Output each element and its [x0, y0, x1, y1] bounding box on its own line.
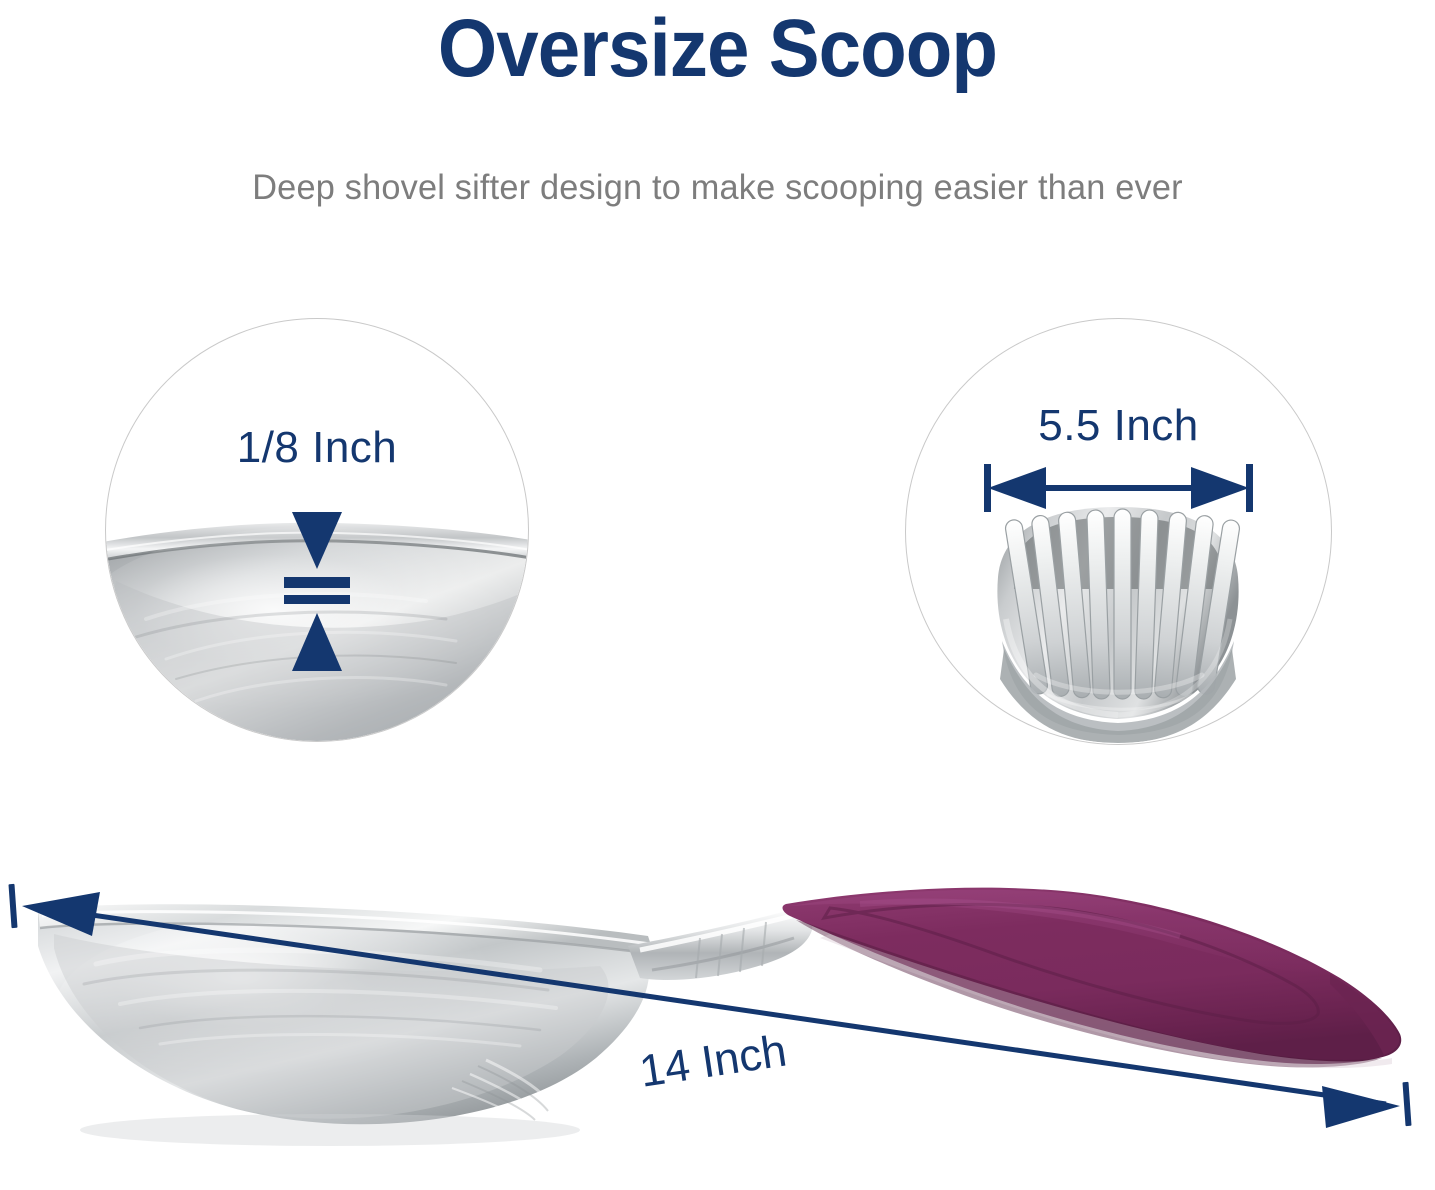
callout-width-label: 5.5 Inch: [906, 401, 1331, 451]
scoop-bowl: [38, 904, 654, 1146]
callout-thickness: 1/8 Inch: [105, 318, 529, 742]
thickness-caliper-icon: [106, 319, 528, 741]
callout-thickness-label: 1/8 Inch: [106, 423, 528, 473]
page-title: Oversize Scoop: [50, 6, 1385, 93]
infographic-canvas: Oversize Scoop Deep shovel sifter design…: [0, 0, 1435, 1190]
product-image-scoop: [0, 838, 1435, 1190]
page-subtitle: Deep shovel sifter design to make scoopi…: [14, 168, 1420, 208]
scoop-neck: [628, 909, 812, 980]
handle-purple-silicone: [783, 888, 1402, 1068]
callout-width: 5.5 Inch: [905, 318, 1332, 745]
horizontal-dimension-arrow-icon: [906, 319, 1331, 744]
